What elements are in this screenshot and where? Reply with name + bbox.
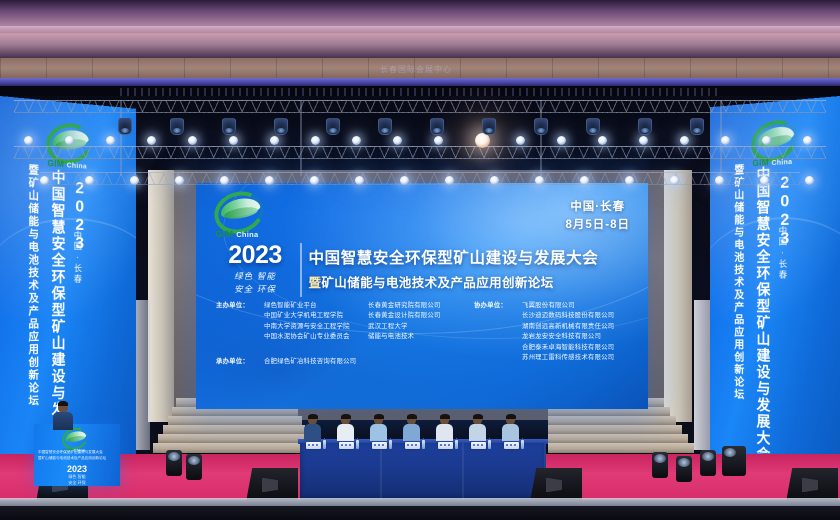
screen-year-block: 2023 绿色 智能 安全 环保	[212, 243, 298, 297]
cohost-label	[474, 353, 522, 363]
truss-lamp	[721, 136, 730, 145]
logo-wordmark: GIM China	[210, 229, 264, 239]
truss-lamp	[229, 136, 238, 145]
banner-right-main-title: 中国智慧安全环保型矿山建设与发展大会	[753, 166, 772, 464]
organizer-label: 承办单位：	[216, 357, 264, 367]
banner-right-place: 中国·长春	[777, 226, 789, 281]
podium-logo: GIM China	[60, 428, 88, 452]
cohost-rows: 协办单位：飞翼股份有限公司长沙迪迈数码科技股份有限公司湖南创远高新机械有限责任公…	[474, 301, 614, 363]
venue-ceiling	[0, 0, 840, 62]
panelist-body	[370, 424, 387, 441]
cohost-org-name: 湖南创远高新机械有限责任公司	[522, 322, 614, 332]
host-org-name: 中国水泥协会矿山专业委员会	[264, 332, 368, 342]
truss-lamp	[393, 136, 402, 145]
title-divider	[300, 243, 302, 297]
stage-monitor-center-right	[530, 468, 582, 502]
host-org-name: 绿色智能矿业平台	[264, 301, 368, 311]
water-bottle	[455, 440, 458, 449]
cohost-label: 协办单位：	[474, 301, 522, 311]
screen-place-date: 中国·长春 8月5日-8日	[565, 199, 630, 235]
stage-monitor-center-left	[246, 468, 298, 502]
step	[168, 416, 302, 425]
truss-lamp	[400, 176, 409, 185]
panelist-body	[403, 424, 420, 441]
banner-left-swoosh	[0, 214, 136, 344]
truss-lamp	[762, 136, 771, 145]
truss-lamp	[580, 176, 589, 185]
host-org-name: 武汉工程大学	[368, 322, 468, 332]
truss-vertical	[120, 100, 122, 176]
wall-column-right	[664, 170, 692, 422]
wall-column-left	[148, 170, 174, 422]
moving-head-light	[638, 118, 652, 135]
floor-light	[166, 450, 182, 476]
moving-head-light	[690, 118, 704, 135]
name-plate	[306, 442, 321, 449]
cohost-block: 协办单位：飞翼股份有限公司长沙迪迈数码科技股份有限公司湖南创远高新机械有限责任公…	[474, 301, 614, 363]
host-label: 主办单位：	[216, 301, 264, 311]
name-plate	[438, 442, 453, 449]
head-table-skirt	[300, 443, 546, 500]
cohost-row: 协办单位：飞翼股份有限公司	[474, 301, 614, 311]
screen-subtitle-prefix: 暨	[309, 276, 322, 290]
truss-lamp	[490, 176, 499, 185]
moving-head-light	[534, 118, 548, 135]
step	[163, 425, 305, 434]
truss-lamp	[188, 136, 197, 145]
truss-lamp	[147, 136, 156, 145]
apron-rail	[0, 498, 840, 506]
step	[548, 416, 676, 425]
ceiling-light-band	[0, 26, 840, 33]
cohost-org-name: 合肥泰禾卓海智能科技有限公司	[522, 343, 614, 353]
screen-year: 2023	[212, 243, 298, 268]
step	[158, 434, 308, 443]
name-plate	[504, 442, 519, 449]
panelist-hair	[407, 414, 417, 419]
host-org-name: 中南大学资源与安全工程学院	[264, 322, 368, 332]
truss-lamp	[40, 176, 49, 185]
banner-left-place: 中国·长春	[72, 231, 84, 285]
screen-titles: 中国智慧安全环保型矿山建设与发展大会 暨矿山储能与电池技术及产品应用创新论坛	[309, 249, 639, 291]
upper-wall-text: 长春国际会展中心	[380, 64, 640, 76]
truss-lamp	[265, 176, 274, 185]
moving-head-light	[482, 118, 496, 135]
screen-place: 中国·长春	[565, 199, 630, 217]
moving-head-light	[170, 118, 184, 135]
truss-lamp	[760, 176, 769, 185]
truss-lamp	[670, 176, 679, 185]
moving-head-light	[586, 118, 600, 135]
truss-lamp	[516, 136, 525, 145]
truss-lamp	[805, 176, 814, 185]
screen-organizers-block: 主办单位：绿色智能矿业平台长春黄金研究院有限公司中国矿业大学机电工程学院长春黄金…	[216, 301, 634, 343]
podium-line2: 暨矿山储能与电池技术及产品应用创新论坛	[38, 456, 117, 462]
host-org-name: 储能与电池技术	[368, 332, 468, 342]
podium-slogan-line2: 安全 环保	[34, 480, 120, 486]
podium-text: 中国智慧安全环保型矿山建设与发展大会 暨矿山储能与电池技术及产品应用创新论坛	[38, 450, 117, 462]
logo-wordmark-main: GIM	[215, 229, 233, 239]
truss-lower	[14, 146, 826, 159]
truss-third	[40, 172, 800, 185]
screen-main-title: 中国智慧安全环保型矿山建设与发展大会	[309, 249, 639, 268]
stage-photo-scene: 长春国际会展中心 GIM	[0, 0, 840, 520]
moving-head-light	[222, 118, 236, 135]
water-bottle	[323, 440, 326, 449]
truss-lamp	[310, 176, 319, 185]
panelist-body	[469, 424, 486, 441]
truss-lamp	[85, 176, 94, 185]
truss-lamp	[106, 136, 115, 145]
truss-lamp	[270, 136, 279, 145]
truss-lamp	[598, 136, 607, 145]
moving-head-light	[274, 118, 288, 135]
moving-head-light	[430, 118, 444, 135]
speaker-hair	[58, 401, 68, 406]
panelist-hair	[374, 414, 384, 419]
moving-head-light	[378, 118, 392, 135]
truss-lamp	[65, 136, 74, 145]
truss-upper	[14, 100, 826, 113]
cohost-label	[474, 332, 522, 342]
water-bottle	[389, 440, 392, 449]
floor-light	[652, 452, 668, 478]
main-led-screen: GIM China 中国·长春 8月5日-8日 2023 绿色 智能 安全 环保…	[196, 183, 648, 409]
equipment-rack	[722, 446, 746, 476]
screen-subtitle-main: 矿山储能与电池技术及产品应用创新论坛	[321, 276, 553, 290]
truss-lamp	[625, 176, 634, 185]
step	[548, 443, 694, 453]
banner-right-subtitle: 暨矿山储能与电池技术及产品应用创新论坛	[731, 164, 745, 402]
cohost-label	[474, 322, 522, 332]
podium-year: 2023	[34, 464, 120, 474]
cohost-label	[474, 311, 522, 321]
screen-gim-logo: GIM China	[210, 192, 264, 238]
truss-lamp	[557, 136, 566, 145]
cohost-row: 长沙迪迈数码科技股份有限公司	[474, 311, 614, 321]
screen-slogan-line1: 绿色 智能	[212, 271, 298, 284]
logo-wordmark-sub: China	[236, 230, 258, 239]
screen-dates: 8月5日-8日	[565, 217, 630, 235]
stage-monitor-right	[786, 468, 838, 502]
host-label	[216, 311, 264, 321]
panelist-body	[502, 424, 519, 441]
cohost-row: 湖南创远高新机械有限责任公司	[474, 322, 614, 332]
truss-lamp	[352, 136, 361, 145]
cohost-org-name: 长沙迪迈数码科技股份有限公司	[522, 311, 614, 321]
floor-light	[700, 450, 716, 476]
truss-lamp	[445, 176, 454, 185]
step	[548, 434, 688, 443]
truss-lamp	[639, 136, 648, 145]
logo-wordmark-main: GIM	[47, 158, 64, 169]
banner-left-subtitle: 暨矿山储能与电池技术及产品应用创新论坛	[25, 164, 40, 408]
truss-lamp	[680, 136, 689, 145]
panelist-body	[436, 424, 453, 441]
name-plate	[471, 442, 486, 449]
cohost-org-name: 龙岩龙安安全科技有限公司	[522, 332, 601, 342]
truss-lamp	[434, 136, 443, 145]
truss-vertical	[300, 100, 302, 176]
name-plate	[372, 442, 387, 449]
water-bottle	[422, 440, 425, 449]
organizer-value: 合肥绿色矿冶科技咨询有限公司	[264, 357, 356, 367]
truss-lamp	[311, 136, 320, 145]
panelist-hair	[341, 414, 351, 419]
speaker-body	[53, 412, 73, 430]
truss-lamp	[355, 176, 364, 185]
truss-lamp	[175, 176, 184, 185]
host-org-name: 长春黄金设计院有限公司	[368, 311, 468, 321]
panelist-hair	[473, 414, 483, 419]
screen-subtitle: 暨矿山储能与电池技术及产品应用创新论坛	[309, 272, 639, 291]
host-org-name: 长春黄金研究院有限公司	[368, 301, 468, 311]
cohost-row: 苏州理工雷科传感技术有限公司	[474, 353, 614, 363]
cohost-org-name: 苏州理工雷科传感技术有限公司	[522, 353, 614, 363]
cohost-row: 合肥泰禾卓海智能科技有限公司	[474, 343, 614, 353]
screen-slogan-line2: 安全 环保	[212, 284, 298, 297]
panelist-hair	[506, 414, 516, 419]
cohost-row: 龙岩龙安安全科技有限公司	[474, 332, 614, 342]
water-bottle	[488, 440, 491, 449]
cohost-org-name: 飞翼股份有限公司	[522, 301, 575, 311]
truss-lamp	[220, 176, 229, 185]
host-label	[216, 332, 264, 342]
screen-title-bar: 2023 绿色 智能 安全 环保 中国智慧安全环保型矿山建设与发展大会 暨矿山储…	[212, 243, 638, 297]
panelist-body	[304, 424, 321, 441]
host-label	[216, 322, 264, 332]
truss-lamp	[715, 176, 724, 185]
truss-vertical	[540, 100, 542, 176]
truss-lamp	[130, 176, 139, 185]
floor-light	[186, 454, 202, 480]
moving-head-light	[118, 118, 132, 135]
truss-lamp	[803, 136, 812, 145]
moving-head-light	[326, 118, 340, 135]
podium-sign: GIM China 中国智慧安全环保型矿山建设与发展大会 暨矿山储能与电池技术及…	[34, 424, 120, 486]
logo-wordmark-sub: China	[67, 160, 87, 170]
truss-lamp	[24, 136, 33, 145]
step	[548, 425, 682, 434]
organizer-row: 承办单位： 合肥绿色矿冶科技咨询有限公司	[216, 357, 356, 367]
truss-lamp	[535, 176, 544, 185]
cohost-label	[474, 343, 522, 353]
podium-slogan: 绿色 智能 安全 环保	[34, 474, 120, 486]
panelist-hair	[308, 414, 318, 419]
truss-lamp	[475, 133, 490, 148]
panelist-body	[337, 424, 354, 441]
panelist-hair	[440, 414, 450, 419]
speaker-at-podium	[52, 402, 74, 428]
water-bottle	[521, 440, 524, 449]
screen-slogan: 绿色 智能 安全 环保	[212, 271, 298, 297]
floor-light	[676, 456, 692, 482]
banner-right-logo: GIM China	[747, 119, 797, 167]
host-org-name: 中国矿业大学机电工程学院	[264, 311, 368, 321]
name-plate	[339, 442, 354, 449]
water-bottle	[356, 440, 359, 449]
name-plate	[405, 442, 420, 449]
